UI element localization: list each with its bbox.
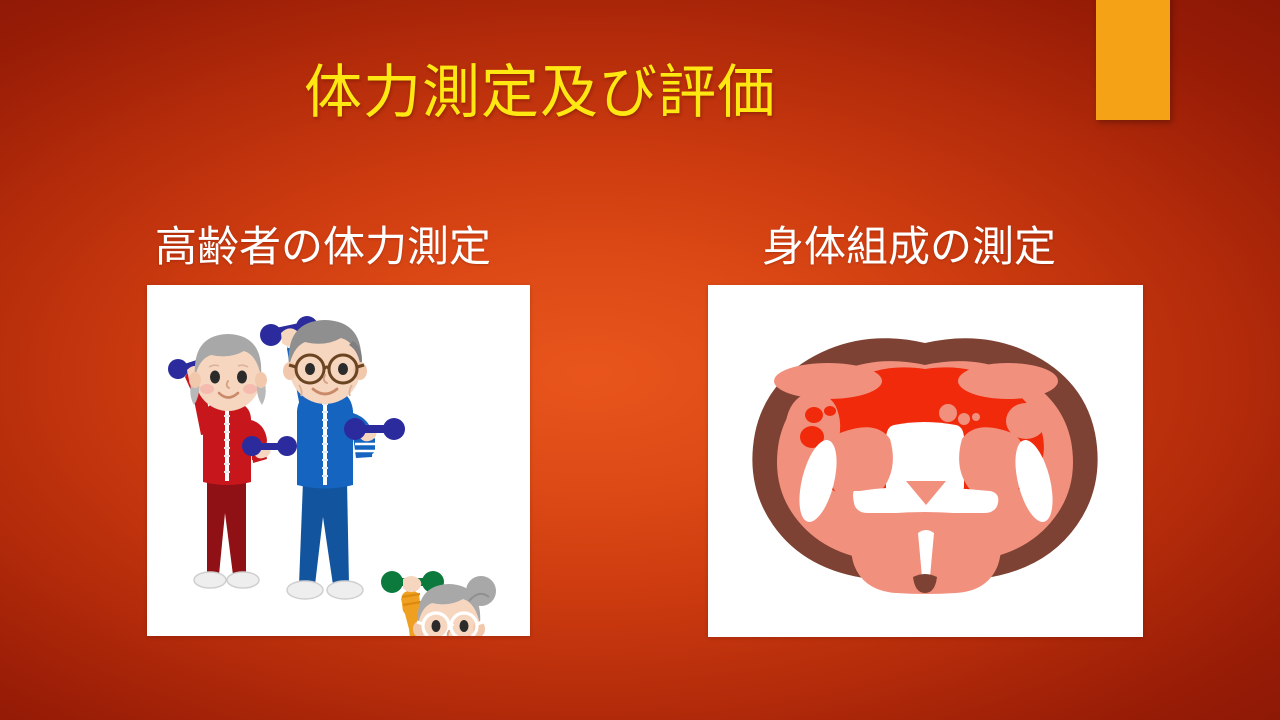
caption-elderly-fitness-test: 高齢者の体力測定 — [155, 222, 491, 272]
image-body-composition — [708, 285, 1143, 637]
slide-canvas: 体力測定及び評価 高齢者の体力測定 身体組成の測定 — [0, 0, 1280, 720]
accent-tab-decoration — [1096, 0, 1170, 120]
slide-title: 体力測定及び評価 — [0, 58, 1080, 128]
image-elderly-exercise — [147, 285, 530, 636]
caption-body-composition: 身体組成の測定 — [762, 222, 1056, 272]
